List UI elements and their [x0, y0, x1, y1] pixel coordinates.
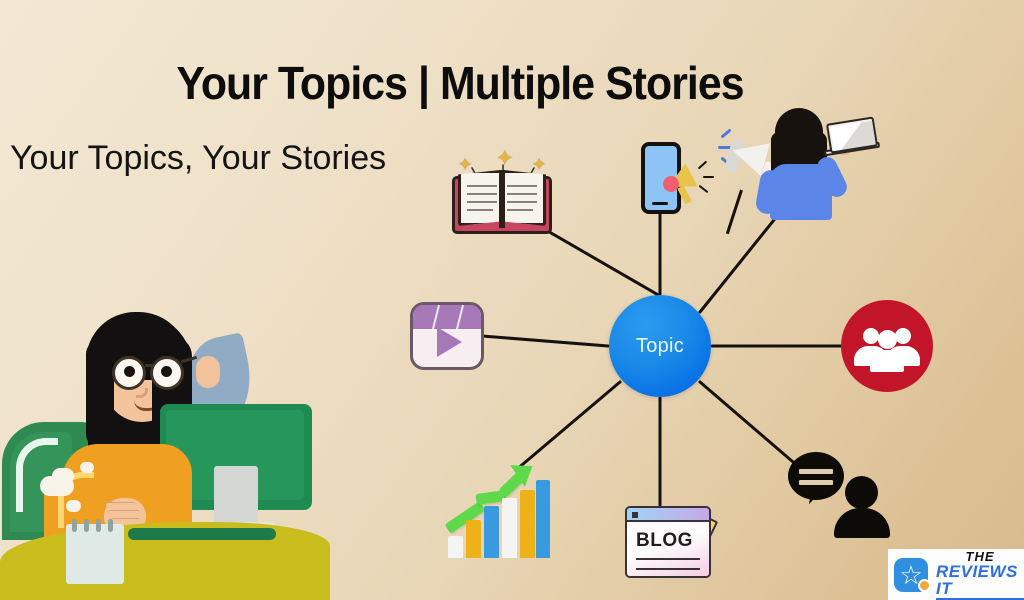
blog-window-icon[interactable]: BLOG: [625, 500, 729, 582]
chart-bar: [520, 490, 535, 558]
blog-label: BLOG: [636, 530, 693, 552]
glasses-bridge: [145, 364, 154, 367]
person-body: [834, 508, 890, 538]
logo-wordmark: THE REVIEWS IT: [936, 550, 1024, 600]
sweater-pattern: [80, 462, 94, 473]
open-book-icon[interactable]: ✦ ✦ ✦: [452, 150, 552, 236]
logo-reviews-it: REVIEWS IT: [936, 563, 1024, 600]
window-titlebar: [627, 508, 709, 522]
logo-the: THE: [936, 550, 1024, 563]
speech-bubble: [788, 452, 844, 500]
video-frame: [410, 302, 484, 370]
play-triangle: [437, 327, 462, 357]
keyboard: [128, 528, 276, 540]
brand-logo[interactable]: ☆ THE REVIEWS IT: [888, 549, 1024, 600]
sweater-pattern: [52, 468, 74, 484]
woman-announcer-illustration[interactable]: [718, 106, 876, 218]
mindmap-hub-node[interactable]: Topic: [609, 295, 711, 397]
blog-window: BLOG: [625, 506, 711, 578]
hair: [775, 108, 823, 170]
raised-hand: [196, 356, 220, 388]
star-badge-icon: ☆: [894, 558, 928, 592]
book-spine: [499, 170, 505, 228]
phone-megaphone-icon[interactable]: [641, 142, 719, 220]
sweater-pattern: [66, 500, 81, 512]
chat-person-icon[interactable]: [788, 452, 890, 536]
woman-at-desk-illustration: [0, 296, 340, 600]
eye-right: [161, 366, 172, 377]
chart-bar: [502, 498, 517, 558]
chart-bar: [466, 520, 481, 558]
chart-bar: [484, 506, 499, 558]
megaphone-mouth: [663, 176, 679, 192]
chart-bar: [448, 536, 463, 558]
coin-icon: [918, 579, 931, 592]
hub-label: Topic: [636, 335, 684, 358]
chart-bar: [536, 480, 550, 558]
community-group-icon[interactable]: [841, 300, 933, 392]
phone-home-button: [652, 202, 668, 205]
person-head: [845, 476, 878, 509]
hair-left: [86, 340, 114, 448]
growth-chart-icon[interactable]: [446, 456, 550, 558]
eye-left: [124, 366, 135, 377]
monitor-stand: [214, 466, 258, 524]
video-play-icon[interactable]: [410, 302, 484, 370]
video-filmstrip: [413, 305, 481, 329]
notepad: [66, 524, 124, 584]
